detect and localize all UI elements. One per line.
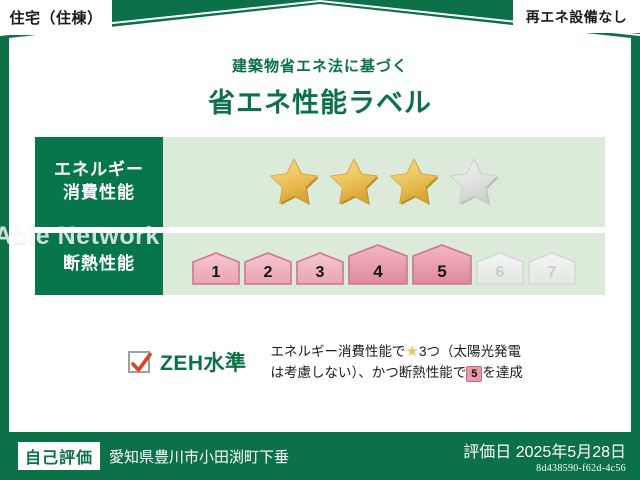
footer-right: 評価日 2025年5月28日 8d438590-f62d-4c56 [463, 438, 626, 474]
energy-label-line1: エネルギー [54, 159, 144, 182]
zeh-section: ZEH水準 エネルギー消費性能で★3つ（太陽光発電 は考慮しない）、かつ断熱性能… [128, 340, 523, 384]
evaluation-type-badge: 自己評価 [18, 442, 100, 470]
insulation-grade-badge: 5 [411, 243, 473, 286]
energy-label-line2: 消費性能 [63, 182, 135, 205]
insulation-label-text: 断熱性能 [63, 253, 135, 276]
star-filled-icon [387, 155, 441, 209]
star-filled-icon [267, 155, 321, 209]
insulation-grade-value: 3 [316, 264, 325, 282]
insulation-grade-badge: 7 [527, 251, 577, 286]
insulation-grade-badge: 2 [243, 251, 293, 286]
insulation-grade-value: 2 [264, 264, 273, 282]
zeh-desc-text-a: エネルギー消費性能で [271, 344, 406, 359]
inline-star-icon: ★ [406, 343, 419, 360]
zeh-desc-text-b: 3つ（太陽光発電 [419, 344, 521, 359]
insulation-grade-value: 1 [212, 264, 221, 282]
zeh-desc-text-c: は考慮しない）、かつ断熱性能で [271, 365, 467, 380]
title-block: 建築物省エネ法に基づく 省エネ性能ラベル [0, 55, 640, 120]
zeh-desc-line2: は考慮しない）、かつ断熱性能で5を達成 [271, 363, 523, 384]
zeh-desc-line1: エネルギー消費性能で★3つ（太陽光発電 [271, 340, 523, 363]
renewable-equipment-badge: 再エネ設備なし [513, 0, 640, 33]
insulation-grade-value: 6 [496, 264, 505, 282]
housing-type-badge: 住宅（住棟） [0, 0, 112, 35]
star-empty-icon [447, 155, 501, 209]
footer: 自己評価 愛知県豊川市小田渕町下垂 評価日 2025年5月28日 8d43859… [0, 432, 640, 480]
footer-left: 自己評価 愛知県豊川市小田渕町下垂 [18, 442, 289, 470]
energy-label-card: 住宅（住棟） 再エネ設備なし 建築物省エネ法に基づく 省エネ性能ラベル エネルギ… [0, 0, 640, 480]
insulation-grade-value: 5 [437, 262, 446, 282]
insulation-grade-badge: 3 [295, 251, 345, 286]
insulation-grade-badge: 4 [347, 243, 409, 286]
property-address: 愛知県豊川市小田渕町下垂 [109, 446, 289, 467]
insulation-grade-value: 7 [548, 264, 557, 282]
zeh-description: エネルギー消費性能で★3つ（太陽光発電 は考慮しない）、かつ断熱性能で5を達成 [271, 340, 523, 384]
zeh-desc-text-d: を達成 [482, 365, 523, 380]
page-title: 省エネ性能ラベル [0, 81, 640, 120]
insulation-performance-row: 断熱性能 1234567 [35, 233, 605, 295]
insulation-grade-content: 1234567 [163, 233, 605, 295]
evaluation-id: 8d438590-f62d-4c56 [463, 463, 626, 474]
performance-rows: エネルギー 消費性能 断熱性能 1234567 [35, 137, 605, 295]
energy-performance-label: エネルギー 消費性能 [35, 137, 163, 227]
insulation-performance-label: 断熱性能 [35, 233, 163, 295]
grade-scale: 1234567 [191, 243, 577, 286]
title-subtitle: 建築物省エネ法に基づく [0, 55, 640, 76]
star-filled-icon [327, 155, 381, 209]
check-icon [129, 351, 154, 377]
zeh-label: ZEH水準 [160, 347, 247, 377]
inline-grade-badge: 5 [466, 366, 482, 382]
energy-performance-row: エネルギー 消費性能 [35, 137, 605, 227]
evaluation-date: 評価日 2025年5月28日 [463, 438, 626, 462]
insulation-grade-value: 4 [373, 262, 382, 282]
insulation-grade-badge: 1 [191, 251, 241, 286]
insulation-grade-badge: 6 [475, 251, 525, 286]
zeh-checkbox[interactable] [128, 351, 150, 373]
star-rating [267, 155, 501, 209]
energy-rating-content [163, 137, 605, 227]
